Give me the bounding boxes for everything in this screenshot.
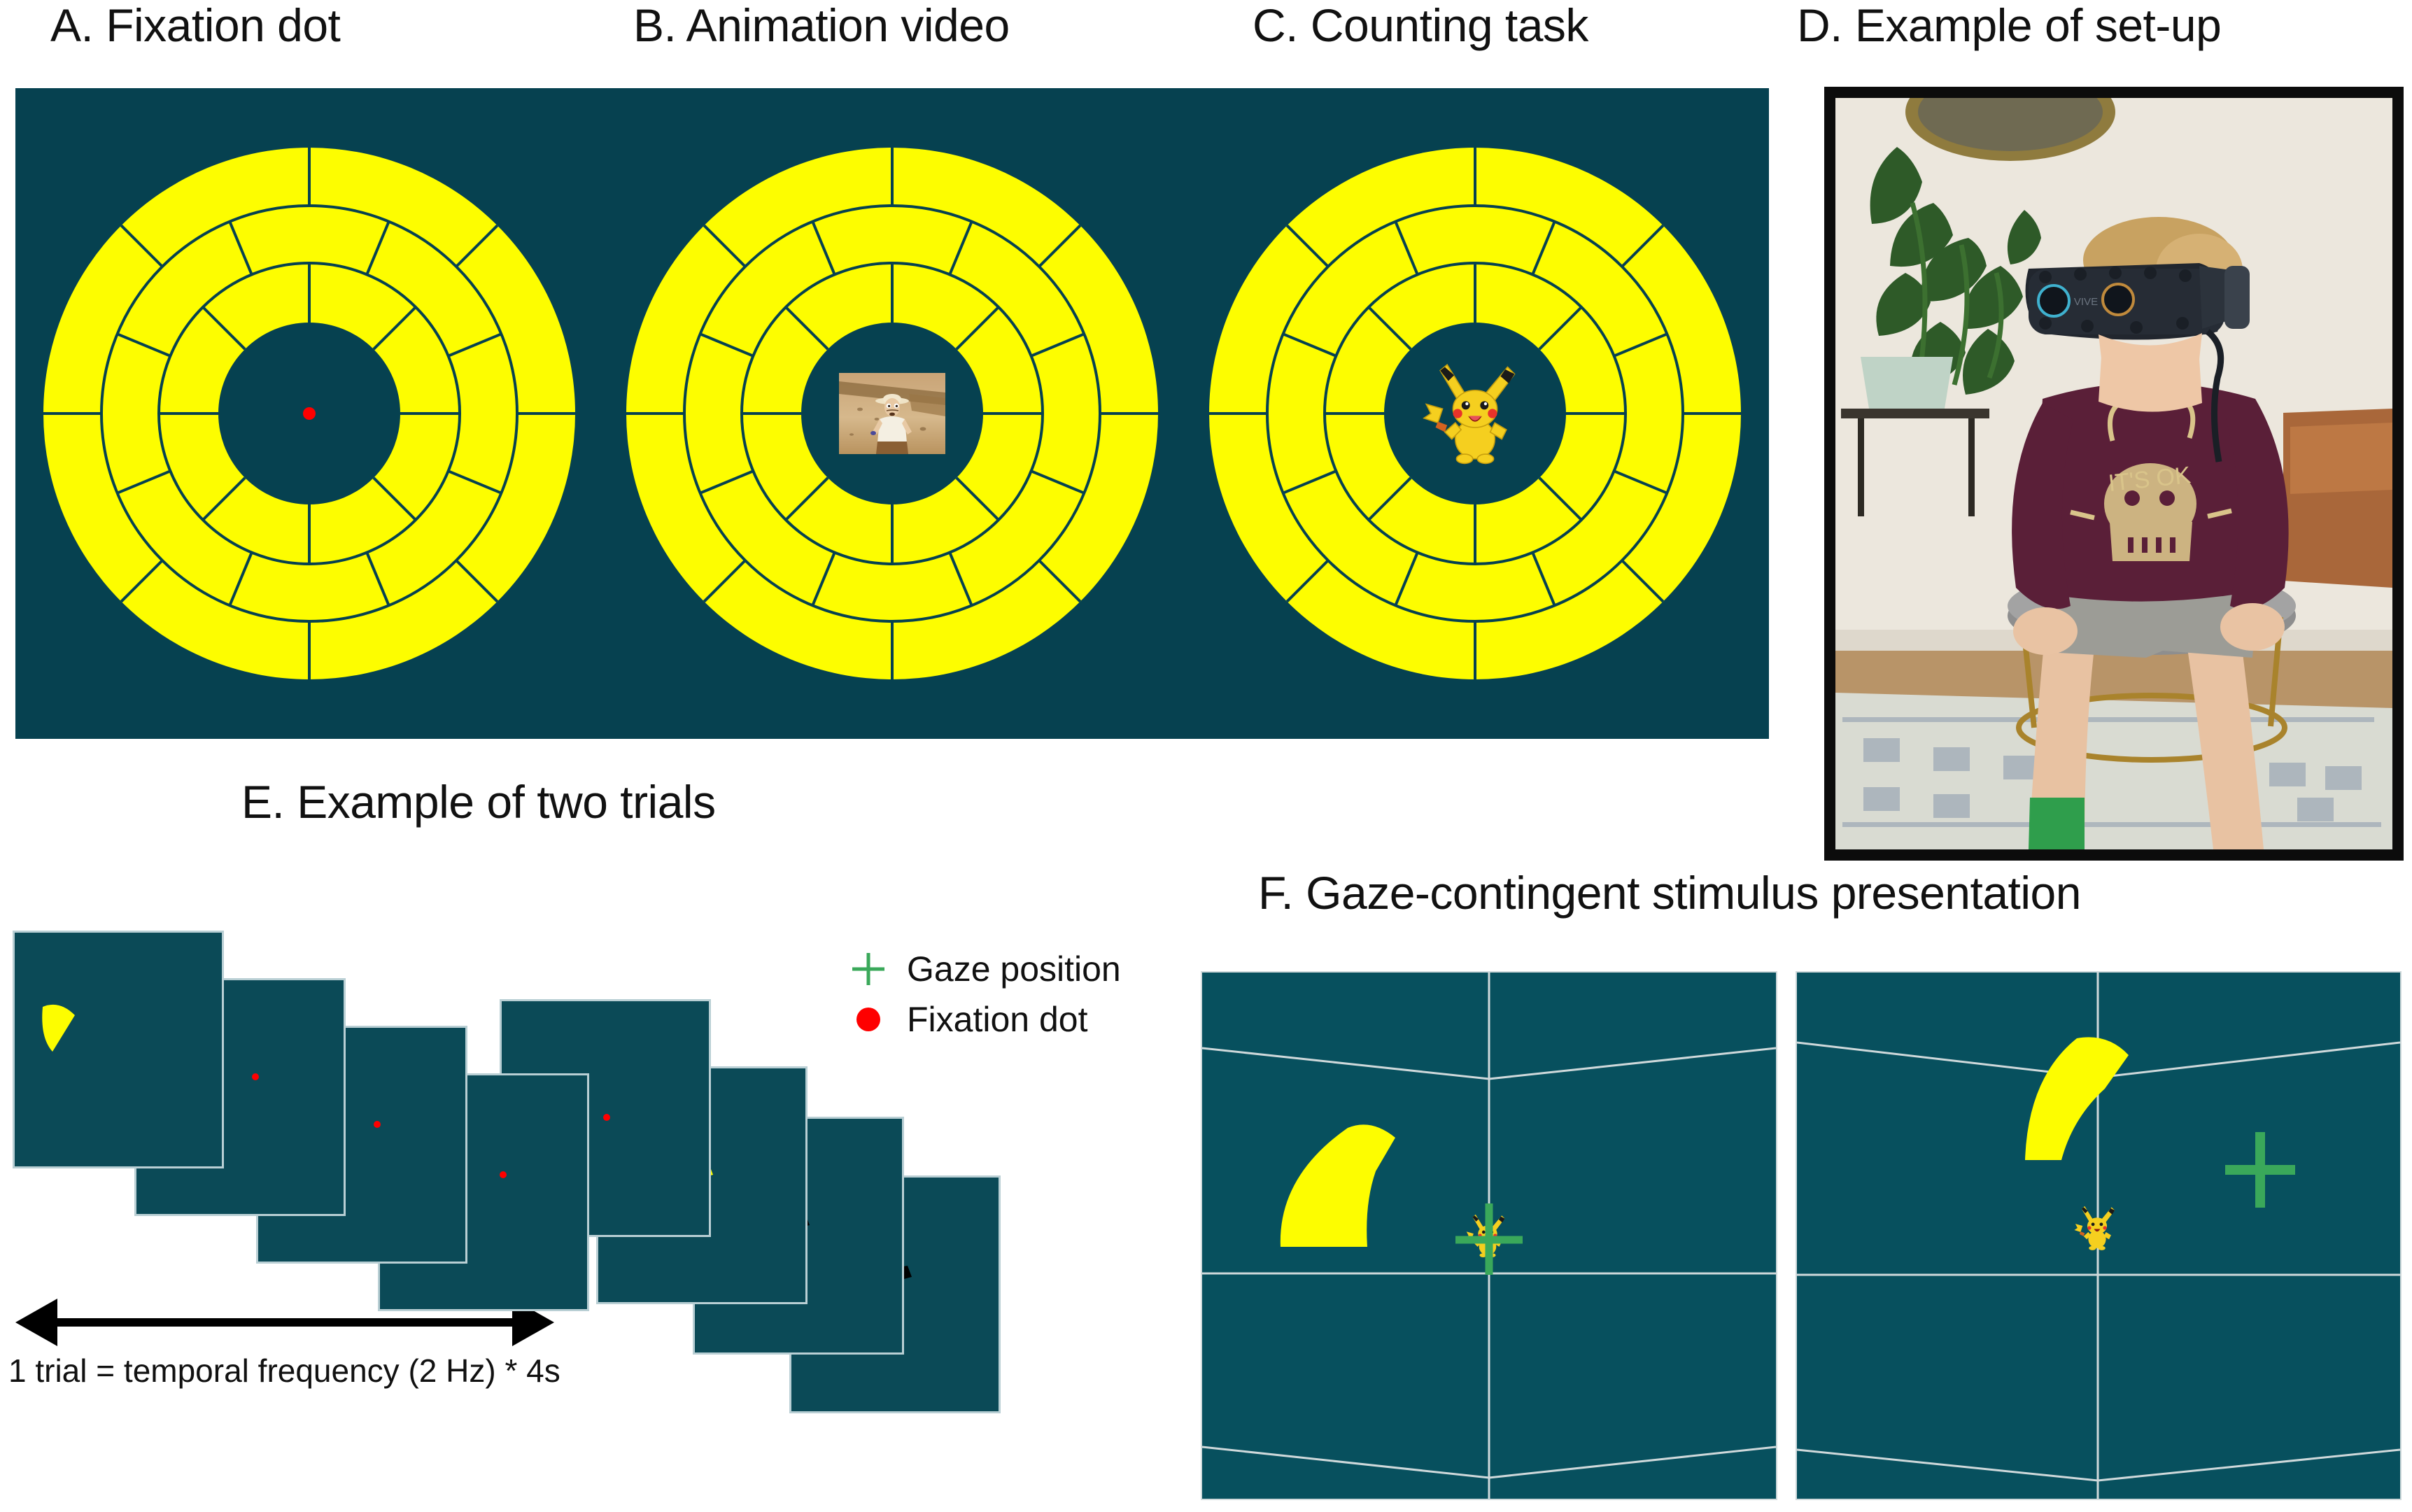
panel-f-title: F. Gaze-contingent stimulus presentation: [1258, 866, 2081, 919]
panel-e-legend: Gaze position Fixation dot: [848, 949, 1121, 1040]
legend-item-fixation: Fixation dot: [848, 999, 1121, 1040]
stimulus-strip: [15, 88, 1769, 739]
trial-frame: [13, 931, 224, 1168]
panel-d-title: D. Example of set-up: [1797, 0, 2221, 52]
panel-b-title: B. Animation video: [633, 0, 1010, 52]
animation-video-thumbnail: [839, 373, 945, 454]
gaze-view-away-from-target: [1796, 971, 2402, 1500]
legend-item-gaze: Gaze position: [848, 949, 1121, 989]
pikachu-target-icon: [1417, 355, 1533, 472]
headset-brand: VIVE: [2074, 296, 2098, 308]
panel-a-title: A. Fixation dot: [50, 0, 340, 52]
panel-e-title: E. Example of two trials: [241, 775, 716, 828]
fixation-dot-icon: [848, 1003, 889, 1036]
fixation-dot-icon: [303, 407, 316, 420]
gaze-cross-icon: [848, 949, 889, 989]
legend-label-gaze: Gaze position: [907, 949, 1121, 989]
dartboard-fixation: [36, 141, 582, 686]
setup-photo: IT'S OK VIVE: [1824, 87, 2404, 861]
panel-c-title: C. Counting task: [1253, 0, 1588, 52]
gaze-view-on-target: [1201, 971, 1777, 1500]
trial-duration-caption: 1 trial = temporal frequency (2 Hz) * 4s: [8, 1352, 560, 1390]
legend-label-fixation: Fixation dot: [907, 999, 1087, 1040]
